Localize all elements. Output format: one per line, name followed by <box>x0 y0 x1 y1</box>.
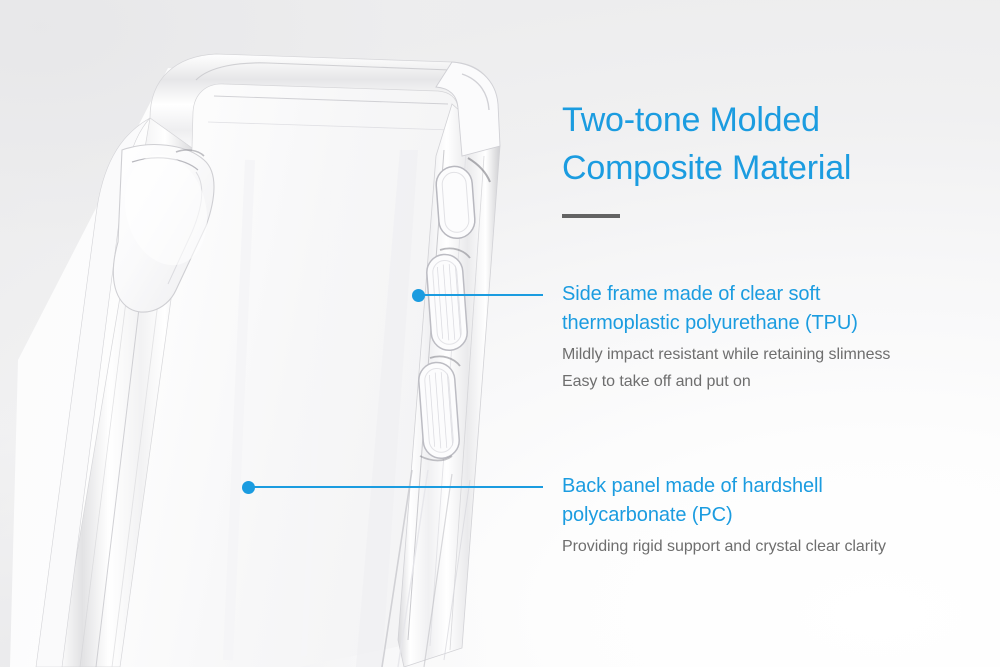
callout-line-pc <box>254 486 543 488</box>
product-feature-banner: Two-tone Molded Composite Material Side … <box>0 0 1000 667</box>
feature-title-tpu: Side frame made of clear soft thermoplas… <box>562 280 982 338</box>
feature-text-column: Two-tone Molded Composite Material Side … <box>562 0 982 667</box>
clear-phone-case-image <box>0 0 560 667</box>
feature-block-pc: Back panel made of hardshell polycarbona… <box>562 472 982 560</box>
callout-dot-pc <box>242 481 255 494</box>
feature-detail-tpu-2: Easy to take off and put on <box>562 368 982 395</box>
callout-line-tpu <box>424 294 543 296</box>
feature-detail-tpu-1: Mildly impact resistant while retaining … <box>562 341 982 368</box>
feature-block-tpu: Side frame made of clear soft thermoplas… <box>562 280 982 395</box>
callout-dot-tpu <box>412 289 425 302</box>
feature-title-pc: Back panel made of hardshell polycarbona… <box>562 472 982 530</box>
title-divider <box>562 214 620 218</box>
page-title: Two-tone Molded Composite Material <box>562 96 982 192</box>
feature-detail-pc-1: Providing rigid support and crystal clea… <box>562 533 982 560</box>
